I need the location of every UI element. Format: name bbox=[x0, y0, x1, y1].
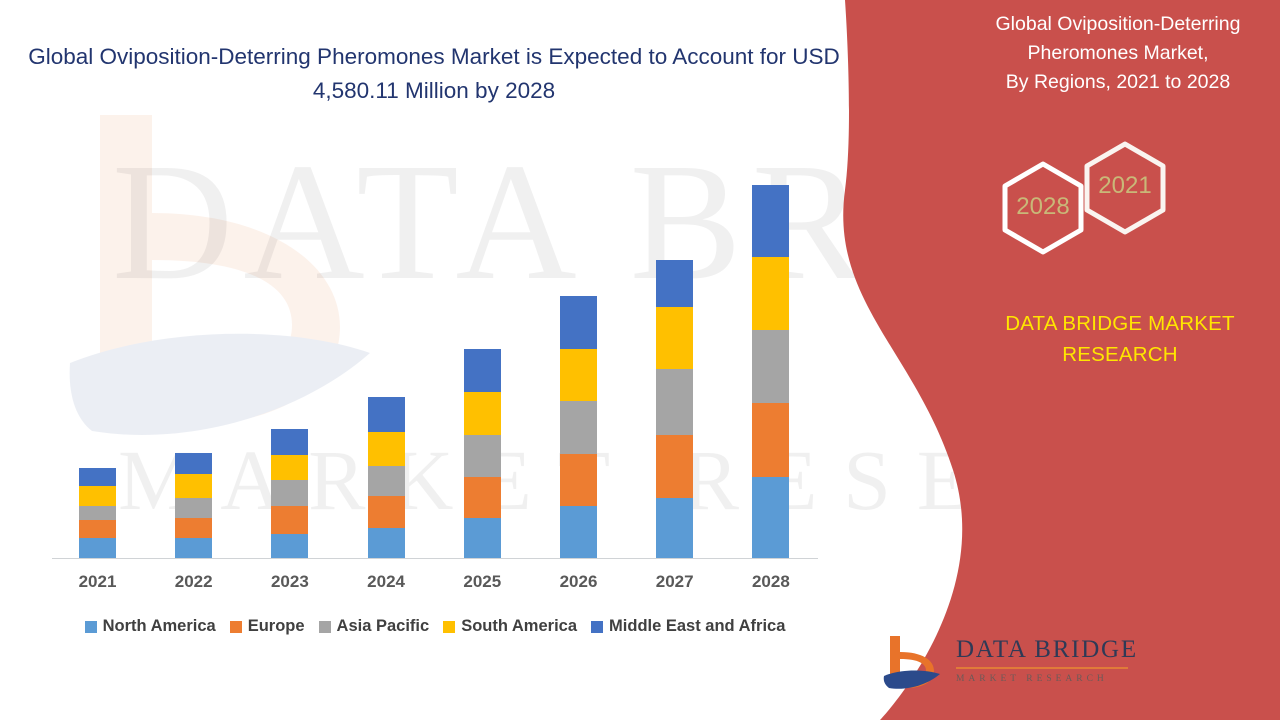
legend-item-asia-pacific[interactable]: Asia Pacific bbox=[319, 617, 430, 636]
legend-label: Middle East and Africa bbox=[609, 617, 785, 636]
bar-segment-2024-north-america bbox=[368, 528, 405, 558]
bar-segment-2026-south-america bbox=[560, 349, 597, 401]
x-label-2025: 2025 bbox=[452, 572, 512, 592]
bar-segment-2024-europe bbox=[368, 496, 405, 527]
stacked-bar-chart: 20212022202320242025202620272028 North A… bbox=[0, 0, 870, 600]
bar-2027 bbox=[656, 260, 693, 558]
bar-segment-2021-asia-pacific bbox=[79, 506, 116, 520]
legend-item-south-america[interactable]: South America bbox=[443, 617, 577, 636]
slide-canvas: DATA BRIDGE MARKET RESEARCH Global Ovipo… bbox=[0, 0, 1280, 720]
brand-name: DATA BRIDGE MARKET RESEARCH bbox=[960, 308, 1280, 370]
x-label-2023: 2023 bbox=[260, 572, 320, 592]
bar-segment-2026-middle-east-and-africa bbox=[560, 296, 597, 349]
legend-swatch-icon bbox=[443, 621, 455, 633]
bar-segment-2025-middle-east-and-africa bbox=[464, 349, 501, 391]
x-label-2022: 2022 bbox=[164, 572, 224, 592]
bar-segment-2021-middle-east-and-africa bbox=[79, 468, 116, 487]
bar-segment-2027-south-america bbox=[656, 307, 693, 369]
bar-segment-2028-south-america bbox=[752, 257, 789, 330]
logo-divider bbox=[956, 667, 1128, 669]
bar-2025 bbox=[464, 349, 501, 558]
right-panel-content: Global Oviposition-Deterring Pheromones … bbox=[820, 0, 1280, 720]
bar-segment-2027-asia-pacific bbox=[656, 369, 693, 435]
bar-segment-2026-asia-pacific bbox=[560, 401, 597, 454]
bar-segment-2028-middle-east-and-africa bbox=[752, 185, 789, 257]
legend-label: Asia Pacific bbox=[337, 617, 430, 636]
logo-sub-text: MARKET RESEARCH bbox=[956, 674, 1138, 684]
x-label-2021: 2021 bbox=[68, 572, 128, 592]
x-axis-line bbox=[52, 558, 818, 559]
legend-item-north-america[interactable]: North America bbox=[85, 617, 216, 636]
bar-segment-2028-asia-pacific bbox=[752, 330, 789, 403]
bar-segment-2023-asia-pacific bbox=[271, 480, 308, 506]
legend-swatch-icon bbox=[319, 621, 331, 633]
bar-segment-2022-south-america bbox=[175, 474, 212, 498]
bar-segment-2025-europe bbox=[464, 477, 501, 518]
bar-segment-2025-south-america bbox=[464, 392, 501, 435]
bar-segment-2022-europe bbox=[175, 518, 212, 539]
legend-swatch-icon bbox=[85, 621, 97, 633]
right-panel-title-line-2: Pheromones Market, bbox=[968, 39, 1268, 68]
bar-segment-2021-europe bbox=[79, 520, 116, 539]
bar-segment-2023-north-america bbox=[271, 534, 308, 558]
x-label-2026: 2026 bbox=[549, 572, 609, 592]
hexagon-2028-label: 2028 bbox=[1003, 193, 1083, 221]
bar-2021 bbox=[79, 468, 116, 558]
bar-segment-2027-europe bbox=[656, 435, 693, 499]
right-panel-title-line-1: Global Oviposition-Deterring bbox=[968, 10, 1268, 39]
right-panel-title-line-3: By Regions, 2021 to 2028 bbox=[968, 68, 1268, 97]
bar-segment-2024-south-america bbox=[368, 432, 405, 466]
bar-2028 bbox=[752, 185, 789, 558]
legend-item-middle-east-and-africa[interactable]: Middle East and Africa bbox=[591, 617, 785, 636]
x-axis-labels: 20212022202320242025202620272028 bbox=[0, 572, 870, 602]
brand-line-1: DATA BRIDGE MARKET bbox=[960, 308, 1280, 339]
bar-segment-2022-asia-pacific bbox=[175, 498, 212, 518]
bar-segment-2025-north-america bbox=[464, 518, 501, 558]
chart-legend: North AmericaEuropeAsia PacificSouth Ame… bbox=[0, 617, 870, 636]
bar-segment-2021-north-america bbox=[79, 538, 116, 558]
x-label-2028: 2028 bbox=[741, 572, 801, 592]
x-label-2024: 2024 bbox=[356, 572, 416, 592]
bar-segment-2021-south-america bbox=[79, 486, 116, 506]
bar-segment-2026-north-america bbox=[560, 506, 597, 558]
bar-segment-2024-asia-pacific bbox=[368, 466, 405, 496]
logo-main-text: DATA BRIDGE bbox=[956, 636, 1138, 664]
legend-label: Europe bbox=[248, 617, 305, 636]
bar-segment-2023-middle-east-and-africa bbox=[271, 429, 308, 455]
bar-2024 bbox=[368, 397, 405, 558]
bar-segment-2023-europe bbox=[271, 506, 308, 533]
brand-line-2: RESEARCH bbox=[960, 339, 1280, 370]
right-panel-title: Global Oviposition-Deterring Pheromones … bbox=[968, 10, 1268, 97]
bar-2023 bbox=[271, 429, 308, 558]
logo-mark-icon bbox=[878, 632, 954, 696]
legend-swatch-icon bbox=[230, 621, 242, 633]
bar-segment-2022-north-america bbox=[175, 538, 212, 558]
bar-segment-2027-middle-east-and-africa bbox=[656, 260, 693, 307]
bar-segment-2025-asia-pacific bbox=[464, 435, 501, 477]
company-logo: DATA BRIDGE MARKET RESEARCH bbox=[878, 628, 1108, 700]
legend-swatch-icon bbox=[591, 621, 603, 633]
legend-label: North America bbox=[103, 617, 216, 636]
legend-item-europe[interactable]: Europe bbox=[230, 617, 305, 636]
bar-segment-2024-middle-east-and-africa bbox=[368, 397, 405, 431]
bar-segment-2022-middle-east-and-africa bbox=[175, 453, 212, 474]
x-label-2027: 2027 bbox=[645, 572, 705, 592]
hexagon-2021-label: 2021 bbox=[1085, 172, 1165, 200]
bar-segment-2028-europe bbox=[752, 403, 789, 476]
legend-label: South America bbox=[461, 617, 577, 636]
bar-segment-2028-north-america bbox=[752, 477, 789, 558]
bar-2026 bbox=[560, 296, 597, 558]
logo-wordmark: DATA BRIDGE MARKET RESEARCH bbox=[956, 636, 1138, 684]
bar-segment-2027-north-america bbox=[656, 498, 693, 558]
bar-segment-2026-europe bbox=[560, 454, 597, 506]
bar-segment-2023-south-america bbox=[271, 455, 308, 479]
hexagon-group: 2021 2028 bbox=[970, 140, 1270, 255]
bar-2022 bbox=[175, 453, 212, 558]
